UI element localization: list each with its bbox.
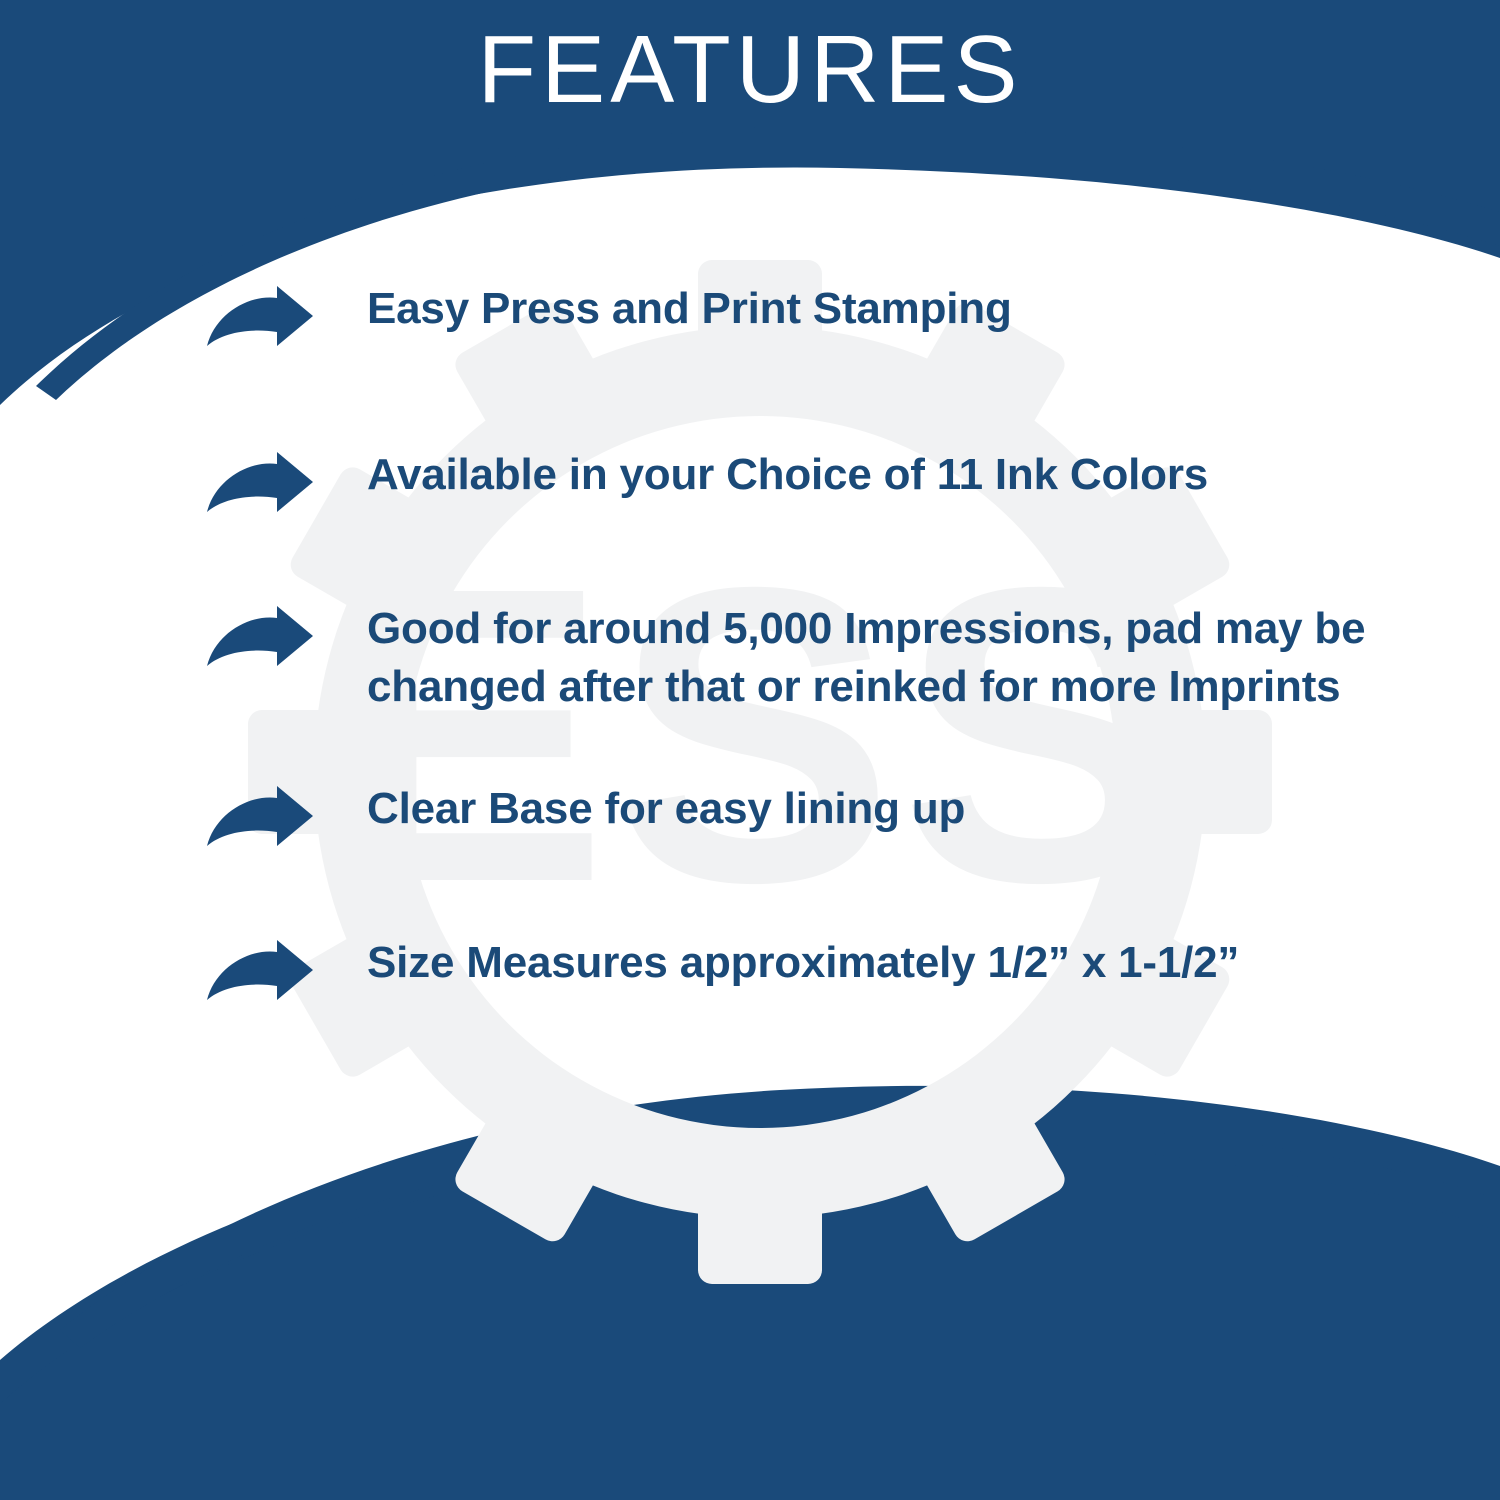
feature-item: Easy Press and Print Stamping [205, 278, 1475, 356]
feature-label: Size Measures approximately 1/2” x 1-1/2… [367, 932, 1239, 992]
feature-item: Size Measures approximately 1/2” x 1-1/2… [205, 932, 1475, 1010]
curved-arrow-right-icon [205, 450, 315, 522]
feature-label: Available in your Choice of 11 Ink Color… [367, 444, 1208, 504]
feature-item: Clear Base for easy lining up [205, 778, 1475, 856]
feature-item: Available in your Choice of 11 Ink Color… [205, 444, 1475, 522]
feature-label: Good for around 5,000 Impressions, pad m… [367, 598, 1467, 716]
curved-arrow-right-icon [205, 784, 315, 856]
feature-item: Good for around 5,000 Impressions, pad m… [205, 598, 1475, 716]
feature-label: Clear Base for easy lining up [367, 778, 965, 838]
curved-arrow-right-icon [205, 938, 315, 1010]
page-title: FEATURES [478, 22, 1023, 118]
curved-arrow-right-icon [205, 284, 315, 356]
curved-arrow-right-icon [205, 604, 315, 676]
title-bar: FEATURES [0, 0, 1500, 140]
feature-label: Easy Press and Print Stamping [367, 278, 1012, 338]
feature-graphic-page: ESS FEATURES Easy Press and Print Stampi… [0, 0, 1500, 1500]
features-list: Easy Press and Print Stamping Available … [205, 278, 1475, 1010]
